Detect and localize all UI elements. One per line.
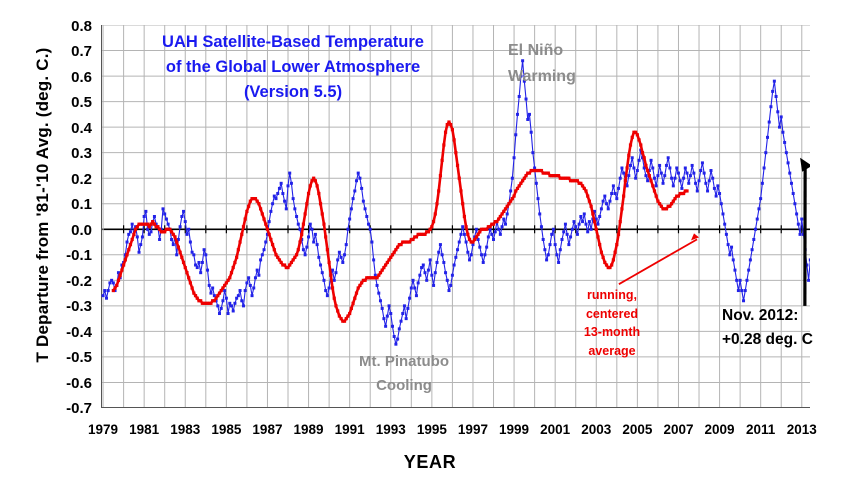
chart-title-line-2: of the Global Lower Atmosphere <box>118 55 468 80</box>
chart-title-line-1: UAH Satellite-Based Temperature <box>118 30 468 55</box>
annotation-running-average-line-3: 13-month <box>564 323 660 342</box>
x-axis-title: YEAR <box>0 452 860 473</box>
annotation-running-average: running, centered 13-month average <box>564 286 660 360</box>
annotation-pinatubo-line-2: Cooling <box>336 374 472 398</box>
annotation-el-nino-line-1: El Niño <box>508 38 576 64</box>
annotation-running-average-line-1: running, <box>564 286 660 305</box>
annotation-running-average-line-4: average <box>564 342 660 361</box>
chart-title-line-3: (Version 5.5) <box>118 80 468 105</box>
chart-root: T Departure from '81-'10 Avg. (deg. C.) … <box>0 0 860 497</box>
annotation-nov-2012: Nov. 2012: +0.28 deg. C <box>722 304 813 352</box>
annotation-el-nino-line-2: Warming <box>508 64 576 90</box>
annotation-running-average-line-2: centered <box>564 305 660 324</box>
chart-title: UAH Satellite-Based Temperature of the G… <box>118 30 468 105</box>
x-tick-17: 2013 <box>772 422 832 437</box>
annotation-pinatubo-line-1: Mt. Pinatubo <box>336 350 472 374</box>
annotation-nov-2012-line-1: Nov. 2012: <box>722 304 813 328</box>
annotation-nov-2012-line-2: +0.28 deg. C <box>722 328 813 352</box>
annotation-pinatubo: Mt. Pinatubo Cooling <box>336 350 472 398</box>
annotation-el-nino: El Niño Warming <box>508 38 576 90</box>
